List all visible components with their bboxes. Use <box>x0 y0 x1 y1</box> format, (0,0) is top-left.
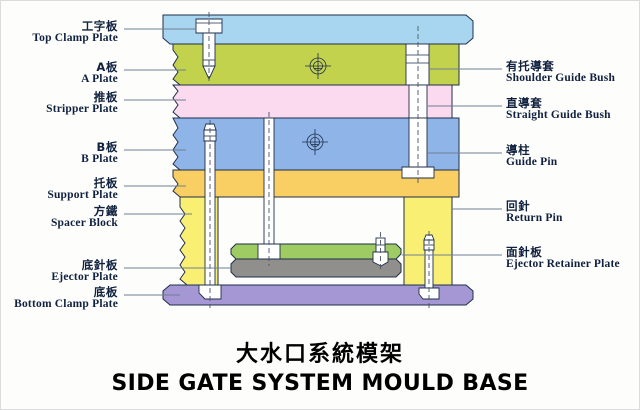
label-spacer-block: 方鐵 Spacer Block <box>51 206 118 230</box>
label-cn: A板 <box>81 62 118 74</box>
label-cn: 托板 <box>47 178 118 190</box>
label-cn: 推板 <box>46 92 118 104</box>
label-en: Return Pin <box>506 213 563 225</box>
label-en: B Plate <box>81 154 118 166</box>
label-bottom-clamp-plate: 底板 Bottom Clamp Plate <box>14 287 118 311</box>
label-en: Straight Guide Bush <box>506 110 611 122</box>
label-cn: 面針板 <box>506 247 620 259</box>
label-cn: B板 <box>81 142 118 154</box>
diagram-title: 大水口系統模架 SIDE GATE SYSTEM MOULD BASE <box>0 336 640 396</box>
label-cn: 導柱 <box>506 145 557 157</box>
label-en: Guide Pin <box>506 157 557 169</box>
label-cn: 有托導套 <box>506 61 615 73</box>
label-cn: 方鐵 <box>51 206 118 218</box>
label-cn: 直導套 <box>506 98 611 110</box>
label-en: Support Plate <box>47 190 118 202</box>
label-stripper-plate: 推板 Stripper Plate <box>46 92 118 116</box>
label-en: Stripper Plate <box>46 104 118 116</box>
label-return-pin: 回針 Return Pin <box>506 201 563 225</box>
label-cn: 工字板 <box>32 21 118 33</box>
label-en: Bottom Clamp Plate <box>14 299 118 311</box>
label-a-plate: A板 A Plate <box>81 62 118 86</box>
label-straight-guide-bush: 直導套 Straight Guide Bush <box>506 98 611 122</box>
label-en: Top Clamp Plate <box>32 33 118 45</box>
title-chinese: 大水口系統模架 <box>0 336 640 368</box>
label-cn: 底針板 <box>51 260 118 272</box>
label-cn: 回針 <box>506 201 563 213</box>
label-en: Ejector Plate <box>51 272 118 284</box>
label-ejector-retainer-plate: 面針板 Ejector Retainer Plate <box>506 247 620 271</box>
label-en: Ejector Retainer Plate <box>506 259 620 271</box>
label-ejector-plate: 底針板 Ejector Plate <box>51 260 118 284</box>
label-support-plate: 托板 Support Plate <box>47 178 118 202</box>
label-top-clamp-plate: 工字板 Top Clamp Plate <box>32 21 118 45</box>
label-shoulder-guide-bush: 有托導套 Shoulder Guide Bush <box>506 61 615 85</box>
label-b-plate: B板 B Plate <box>81 142 118 166</box>
label-en: A Plate <box>81 74 118 86</box>
label-en: Shoulder Guide Bush <box>506 73 615 85</box>
label-cn: 底板 <box>14 287 118 299</box>
label-guide-pin: 導柱 Guide Pin <box>506 145 557 169</box>
label-en: Spacer Block <box>51 218 118 230</box>
title-english: SIDE GATE SYSTEM MOULD BASE <box>0 371 640 396</box>
